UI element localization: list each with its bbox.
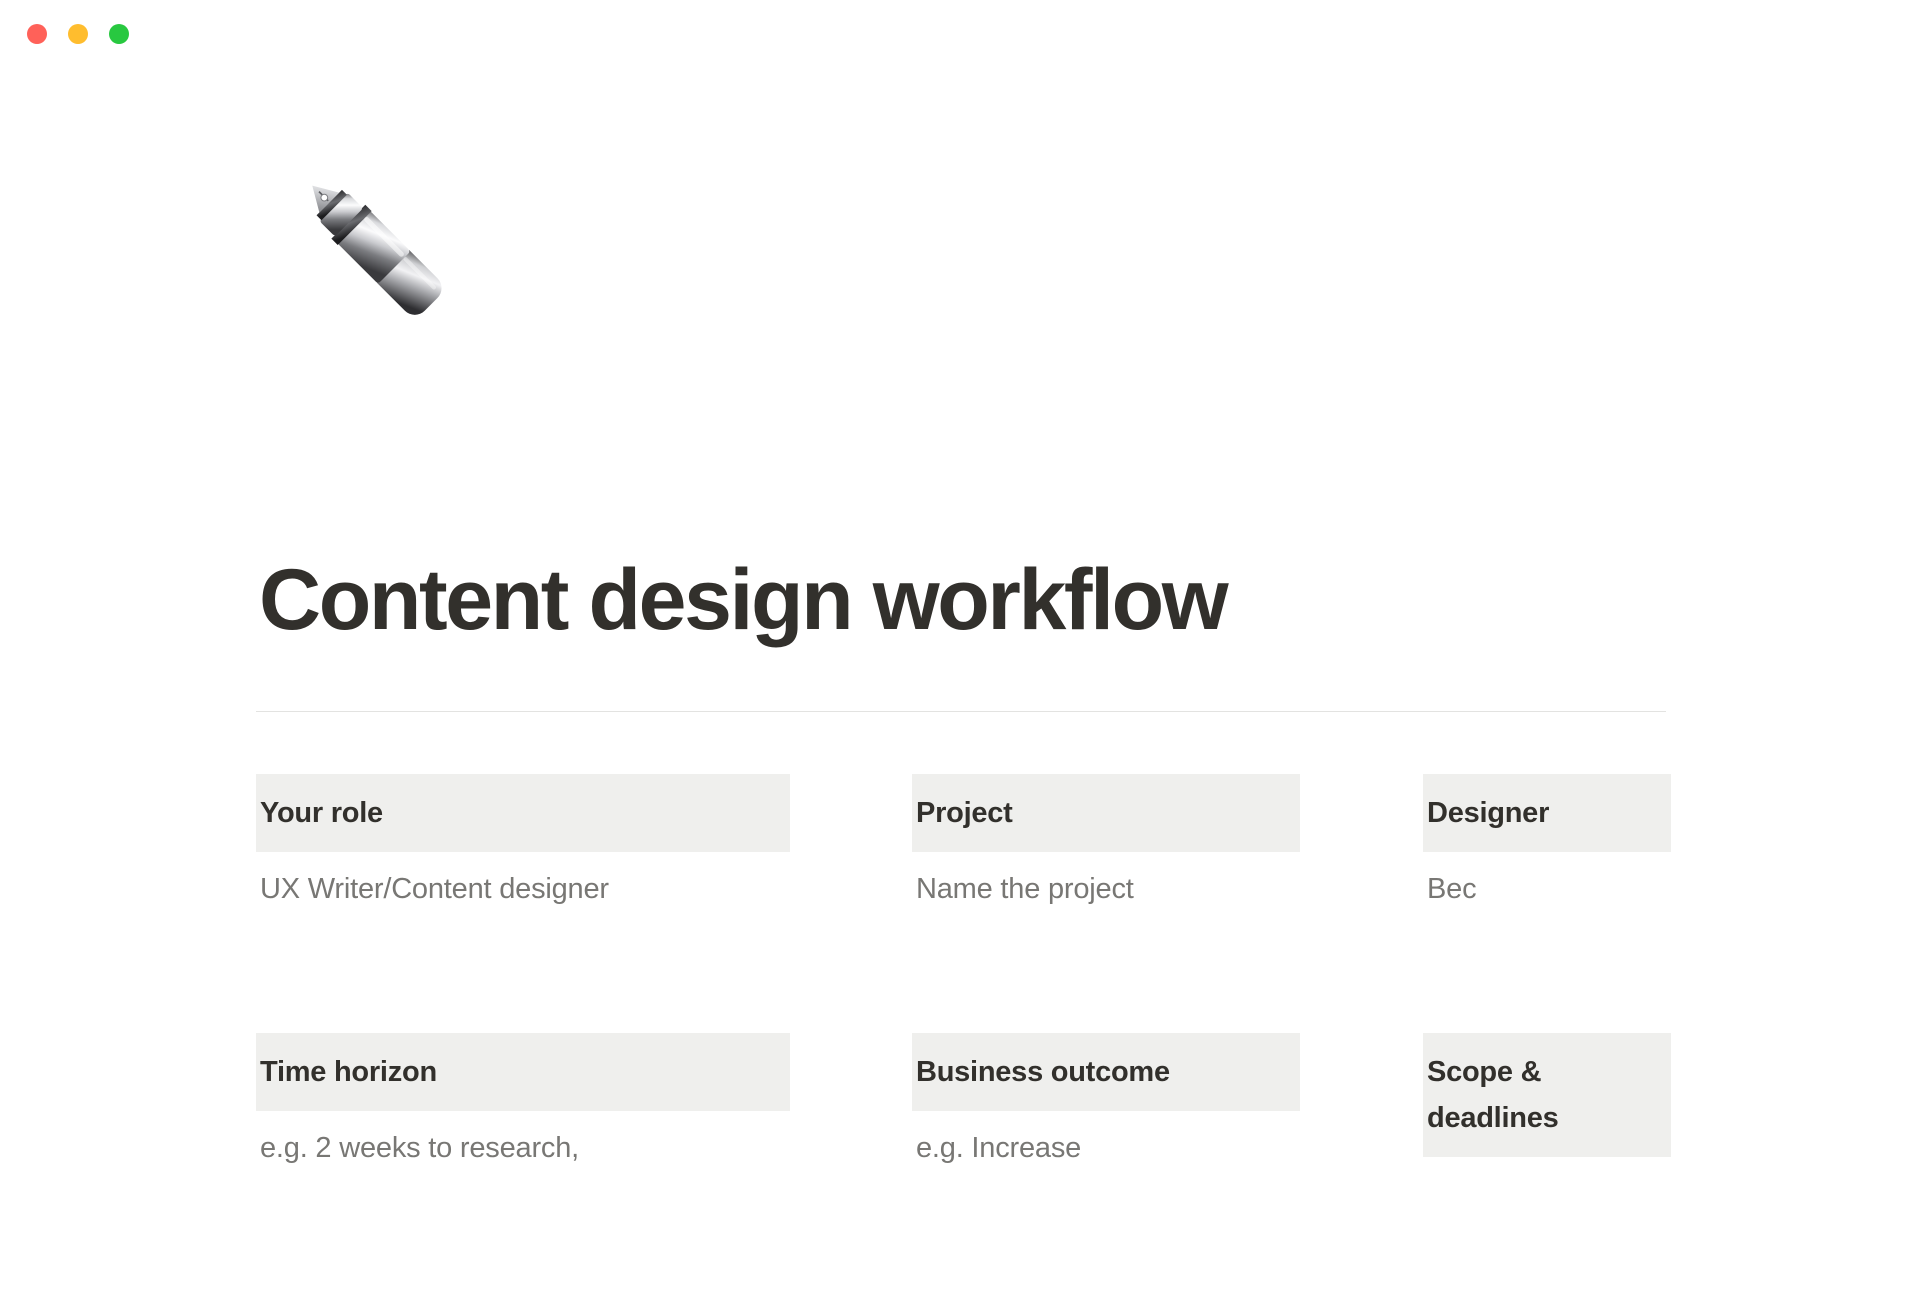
property-cell-time-horizon: Time horizon e.g. 2 weeks to research, <box>256 1033 790 1171</box>
property-cell-business-outcome: Business outcome e.g. Increase <box>912 1033 1300 1171</box>
property-header-scope-deadlines[interactable]: Scope & deadlines <box>1423 1033 1671 1157</box>
fountain-pen-icon[interactable] <box>258 178 450 370</box>
property-header-project[interactable]: Project <box>912 774 1300 852</box>
property-header-time-horizon[interactable]: Time horizon <box>256 1033 790 1111</box>
property-cell-project: Project Name the project <box>912 774 1300 912</box>
property-cell-your-role: Your role UX Writer/Content designer <box>256 774 790 912</box>
document-canvas: Content design workflow Your role UX Wri… <box>0 0 1920 1200</box>
property-grid: Your role UX Writer/Content designer Pro… <box>256 774 1671 1292</box>
property-row: Time horizon e.g. 2 weeks to research, B… <box>256 1033 1671 1292</box>
property-value-designer[interactable]: Bec <box>1423 866 1671 912</box>
property-value-time-horizon[interactable]: e.g. 2 weeks to research, <box>256 1125 790 1171</box>
property-value-your-role[interactable]: UX Writer/Content designer <box>256 866 790 912</box>
property-header-business-outcome[interactable]: Business outcome <box>912 1033 1300 1111</box>
property-row: Your role UX Writer/Content designer Pro… <box>256 774 1671 1033</box>
property-value-business-outcome[interactable]: e.g. Increase <box>912 1125 1300 1171</box>
property-header-your-role[interactable]: Your role <box>256 774 790 852</box>
property-cell-designer: Designer Bec <box>1423 774 1671 912</box>
property-header-designer[interactable]: Designer <box>1423 774 1671 852</box>
title-divider <box>256 711 1666 712</box>
property-value-project[interactable]: Name the project <box>912 866 1300 912</box>
page-title[interactable]: Content design workflow <box>259 548 1679 652</box>
property-cell-scope-deadlines: Scope & deadlines <box>1423 1033 1671 1171</box>
